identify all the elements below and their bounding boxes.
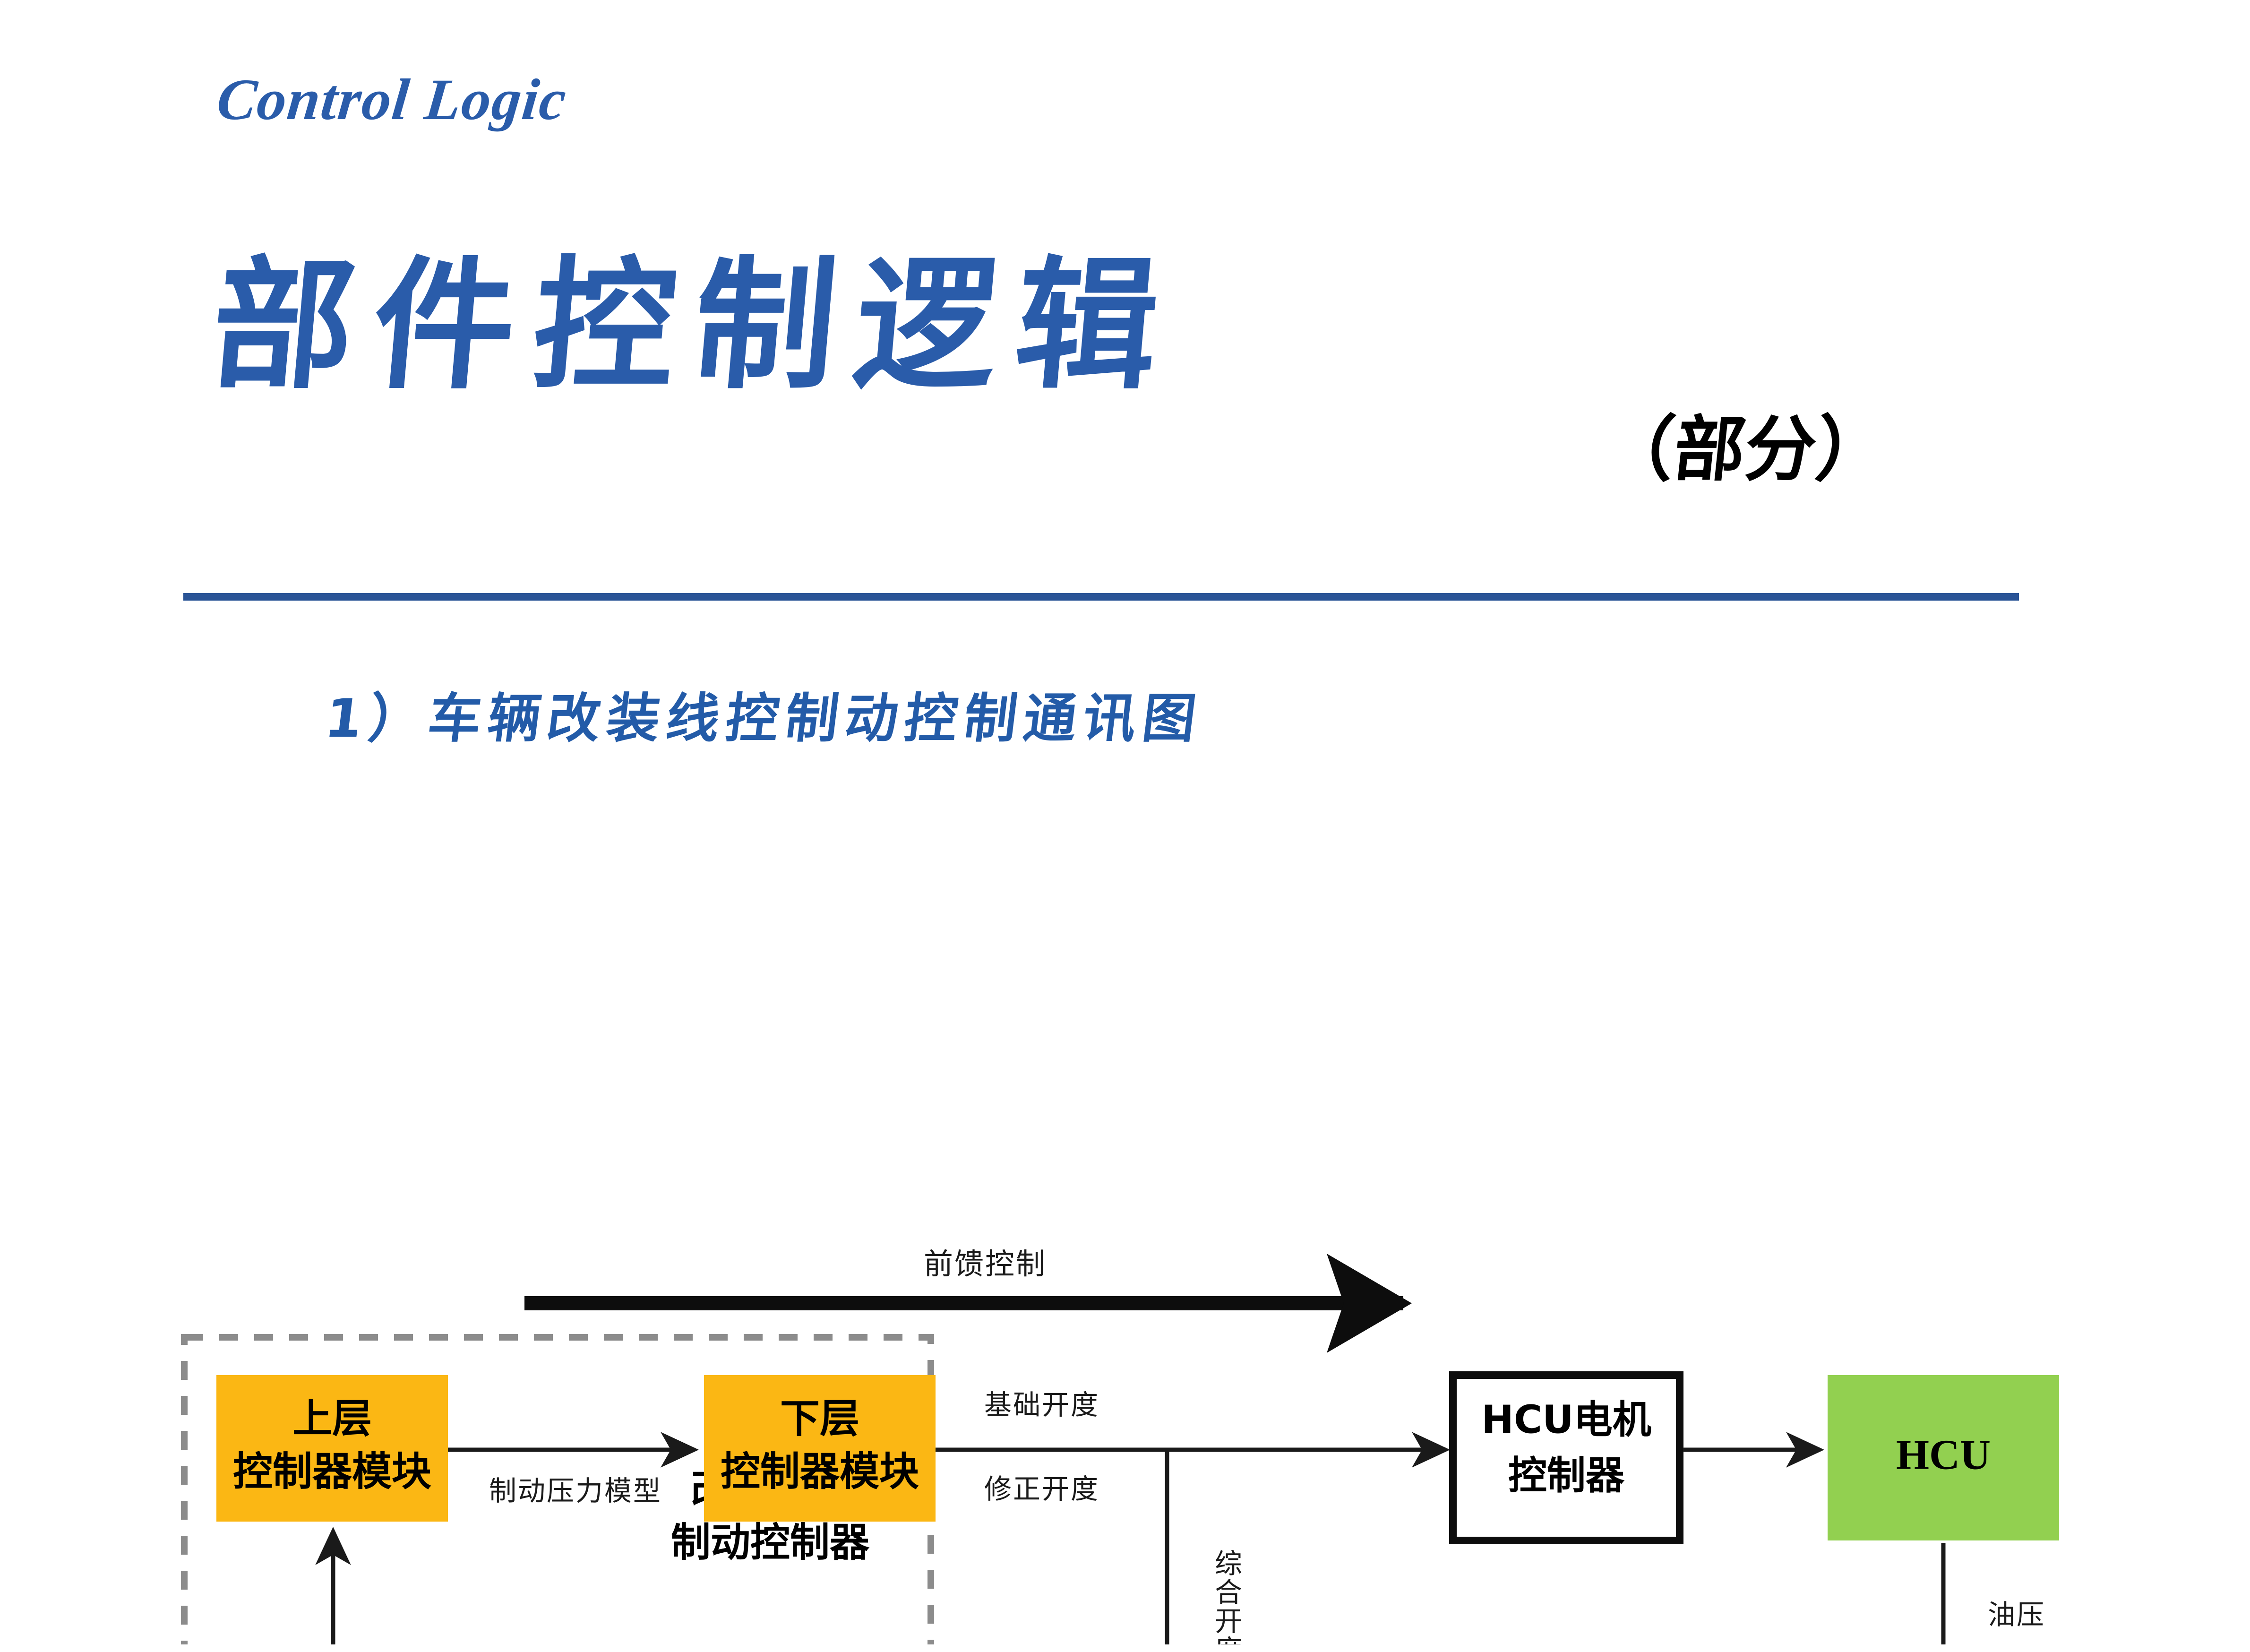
node-hcu-label: HCU	[1896, 1432, 1991, 1479]
label-oil-pressure-1: 油压	[1988, 1599, 2045, 1631]
node-lower-controller[interactable]: 下层 控制器模块	[704, 1375, 936, 1522]
page-title: 部件控制逻辑	[206, 255, 1183, 397]
label-feedforward: 前馈控制	[924, 1247, 1047, 1281]
label-corrected-opening: 修正开度	[984, 1473, 1099, 1505]
page-title-suffix: （部分）	[1599, 392, 1893, 495]
node-hcu-motor-controller[interactable]: HCU电机 控制器	[1453, 1375, 1680, 1540]
node-hcu-motor-controller-line2: 控制器	[1508, 1453, 1625, 1498]
label-combined-opening: 综合开度	[1210, 1549, 1242, 1644]
node-hcu[interactable]: HCU	[1828, 1375, 2059, 1540]
node-lower-controller-line1: 下层	[780, 1395, 859, 1442]
node-upper-controller-line1: 上层	[292, 1395, 372, 1442]
section-title: 1）车辆改装线控制动控制通讯图	[321, 676, 1208, 752]
control-logic-diagram: 前馈控制 改车线控 制动控制器 上层 控制器模块 下层 控制器模块 制动压力模型…	[0, 794, 2250, 1644]
node-lower-controller-line2: 控制器模块	[721, 1448, 919, 1495]
edge-lower-out-branch	[1167, 1450, 1446, 1644]
node-hcu-motor-controller-line1: HCU电机	[1481, 1397, 1651, 1442]
group-label-line2: 制动控制器	[671, 1519, 870, 1566]
control-logic-eyebrow: Control Logic	[214, 66, 570, 133]
node-upper-controller-line2: 控制器模块	[233, 1448, 431, 1495]
header-divider	[183, 593, 2019, 601]
node-upper-controller[interactable]: 上层 控制器模块	[216, 1375, 448, 1522]
label-brake-pressure-model: 制动压力模型	[489, 1475, 662, 1507]
label-base-opening: 基础开度	[984, 1389, 1099, 1421]
